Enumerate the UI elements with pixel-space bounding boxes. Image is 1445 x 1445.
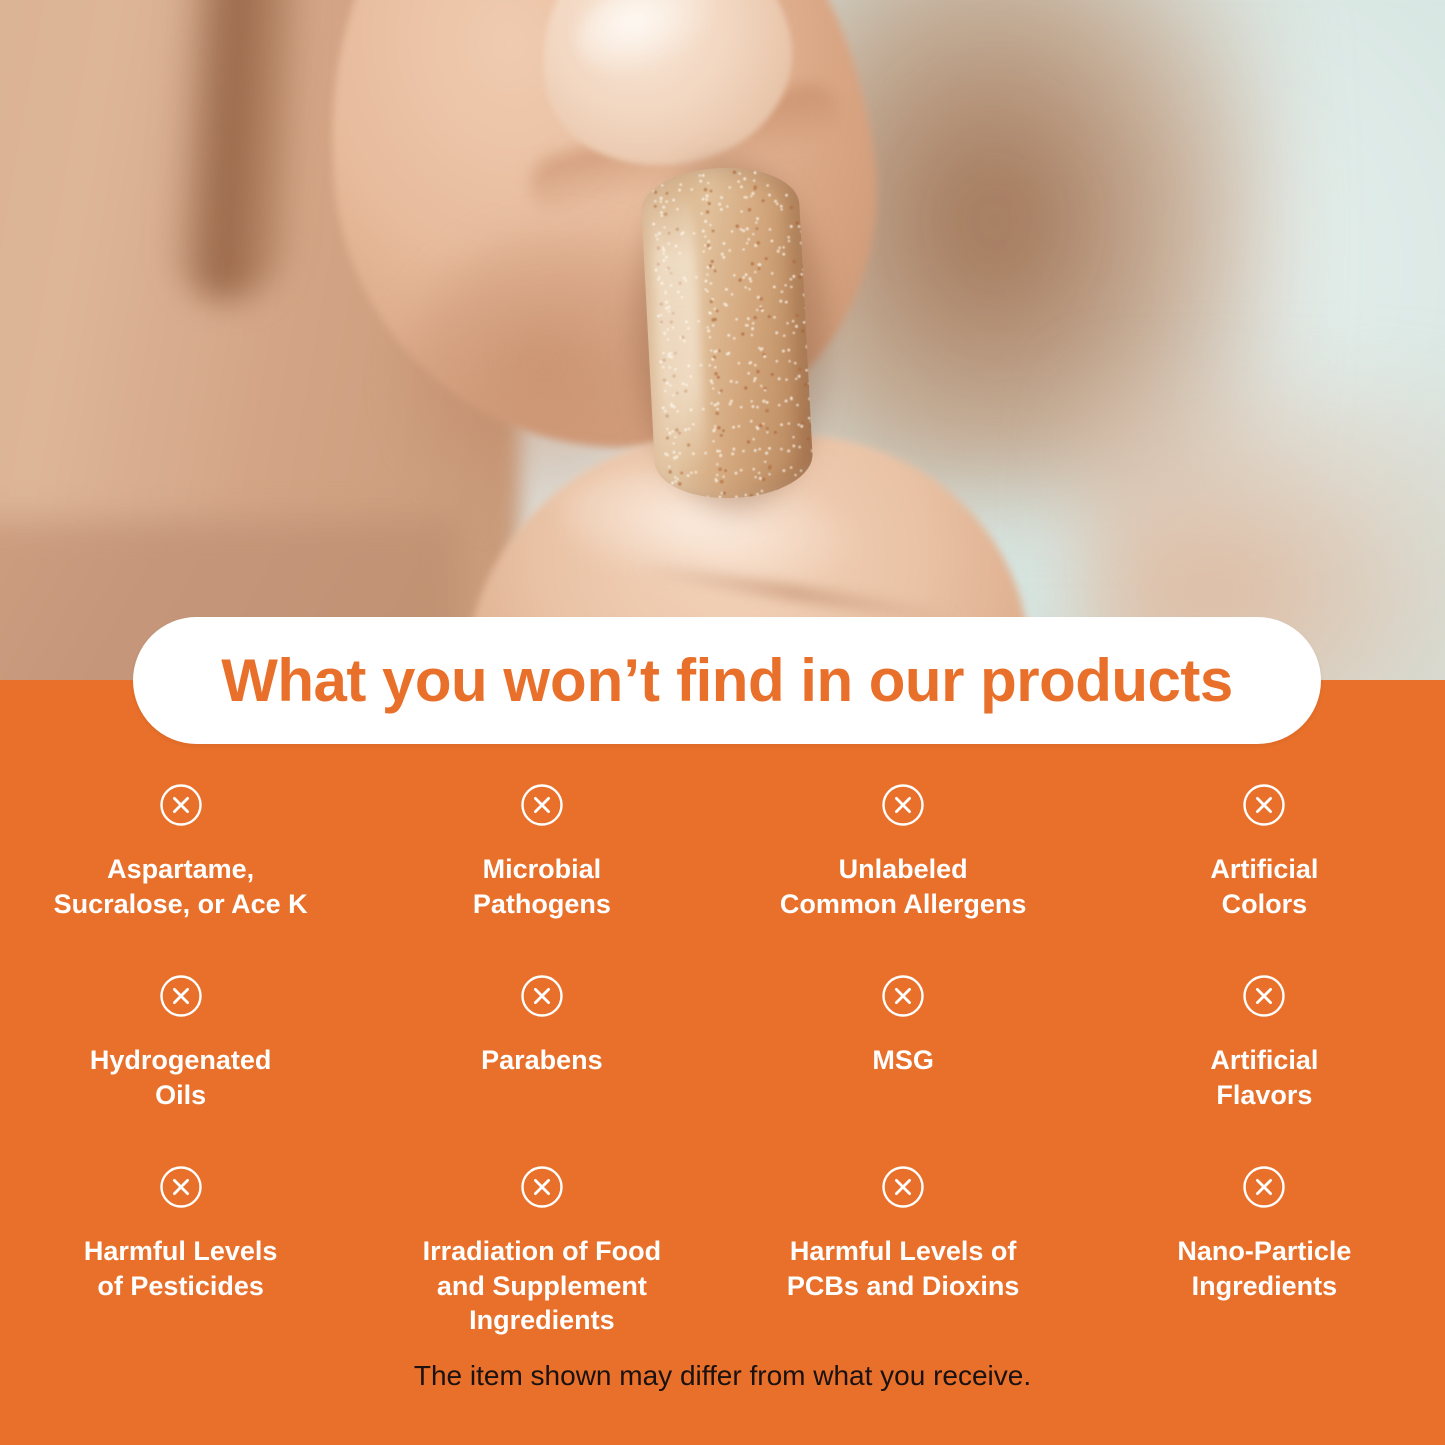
exclusion-label: Hydrogenated Oils xyxy=(90,1043,272,1112)
exclusion-label: Harmful Levels of Pesticides xyxy=(84,1234,278,1303)
x-circle-icon xyxy=(519,973,565,1019)
exclusion-item: Aspartame, Sucralose, or Ace K xyxy=(0,782,361,921)
exclusion-label: Unlabeled Common Allergens xyxy=(780,852,1027,921)
footer: The item shown may differ from what you … xyxy=(0,1360,1445,1392)
x-circle-icon xyxy=(519,782,565,828)
x-circle-icon xyxy=(158,1164,204,1210)
x-circle-icon xyxy=(519,1164,565,1210)
exclusion-item: Artificial Colors xyxy=(1084,782,1445,921)
exclusion-item: Nano-Particle Ingredients xyxy=(1084,1164,1445,1338)
exclusion-item: Irradiation of Food and Supplement Ingre… xyxy=(361,1164,722,1338)
product-infographic: What you won’t find in our products Aspa… xyxy=(0,0,1445,1445)
x-circle-icon xyxy=(880,782,926,828)
product-photo xyxy=(0,0,1445,684)
x-circle-icon xyxy=(1241,782,1287,828)
exclusion-label: Parabens xyxy=(481,1043,603,1078)
x-circle-icon xyxy=(1241,1164,1287,1210)
x-circle-icon xyxy=(158,782,204,828)
disclaimer-text: The item shown may differ from what you … xyxy=(414,1360,1031,1391)
exclusion-label: Microbial Pathogens xyxy=(473,852,611,921)
page-title: What you won’t find in our products xyxy=(221,651,1233,711)
title-part-1: What you xyxy=(221,647,503,714)
x-circle-icon xyxy=(880,973,926,1019)
exclusion-label: Artificial Flavors xyxy=(1210,1043,1318,1112)
headline-banner: What you won’t find in our products xyxy=(133,617,1321,744)
exclusion-item: MSG xyxy=(723,973,1084,1112)
exclusion-item: Parabens xyxy=(361,973,722,1112)
exclusion-label: Nano-Particle Ingredients xyxy=(1177,1234,1351,1303)
exclusion-label: Aspartame, Sucralose, or Ace K xyxy=(54,852,308,921)
exclusion-item: Microbial Pathogens xyxy=(361,782,722,921)
exclusion-label: Artificial Colors xyxy=(1210,852,1318,921)
exclusion-item: Unlabeled Common Allergens xyxy=(723,782,1084,921)
exclusion-item: Artificial Flavors xyxy=(1084,973,1445,1112)
exclusions-grid: Aspartame, Sucralose, or Ace KMicrobial … xyxy=(0,782,1445,1338)
exclusion-label: Harmful Levels of PCBs and Dioxins xyxy=(787,1234,1020,1303)
exclusion-item: Harmful Levels of PCBs and Dioxins xyxy=(723,1164,1084,1338)
exclusion-item: Hydrogenated Oils xyxy=(0,973,361,1112)
title-emphasis: won’t xyxy=(503,647,660,714)
exclusion-label: MSG xyxy=(872,1043,934,1078)
x-circle-icon xyxy=(1241,973,1287,1019)
x-circle-icon xyxy=(880,1164,926,1210)
exclusion-label: Irradiation of Food and Supplement Ingre… xyxy=(423,1234,661,1338)
exclusion-item: Harmful Levels of Pesticides xyxy=(0,1164,361,1338)
x-circle-icon xyxy=(158,973,204,1019)
title-part-2: find in our products xyxy=(660,647,1233,714)
